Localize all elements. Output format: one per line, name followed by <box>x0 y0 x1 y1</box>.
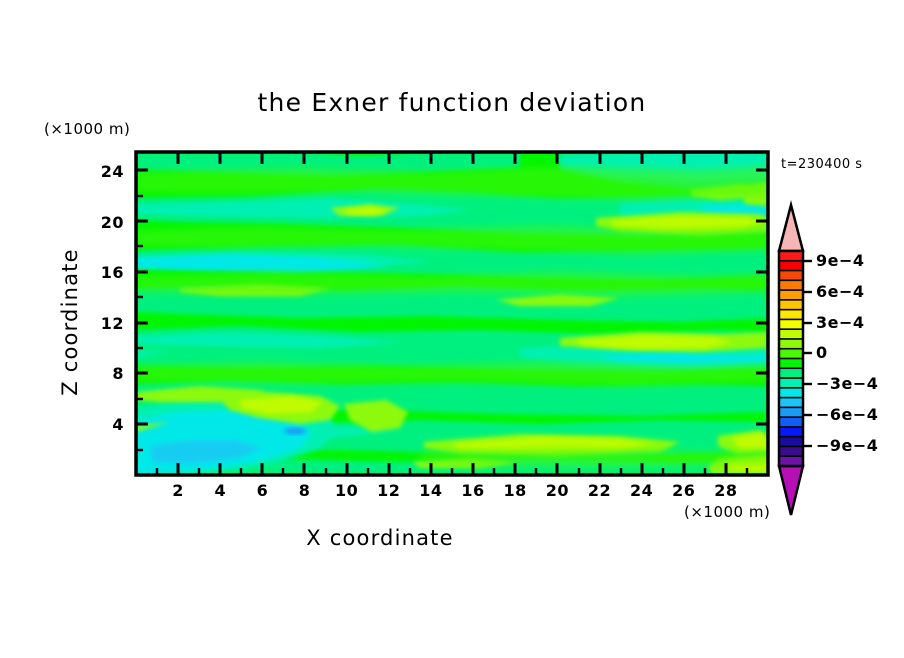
colorbar-band <box>779 310 803 320</box>
colorbar-band <box>779 290 803 300</box>
colorbar-band <box>779 417 803 427</box>
timestamp-annotation: t=230400 s <box>781 157 863 172</box>
colorbar-tick-label: 3e−4 <box>816 313 902 332</box>
colorbar-tick-label: −9e−4 <box>816 436 902 455</box>
colorbar-band <box>779 349 803 359</box>
colorbar[interactable] <box>779 205 812 515</box>
colorbar-band <box>779 368 803 378</box>
colorbar-band <box>779 329 803 339</box>
colorbar-tick-label: 9e−4 <box>816 251 902 270</box>
colorbar-ticks <box>803 261 812 446</box>
colorbar-band <box>779 378 803 388</box>
colorbar-band <box>779 359 803 369</box>
colorbar-band <box>779 261 803 271</box>
colorbar-band <box>779 427 803 437</box>
colorbar-bands <box>779 251 803 466</box>
y-tick-label: 4 <box>70 415 124 434</box>
colorbar-band <box>779 339 803 349</box>
colorbar-band <box>779 446 803 456</box>
colorbar-tick-label: 0 <box>816 343 902 362</box>
colorbar-band <box>779 407 803 417</box>
colorbar-units-label: (×1000 m) <box>684 503 770 521</box>
y-tick-label: 16 <box>70 263 124 282</box>
colorbar-tick-label: 6e−4 <box>816 282 902 301</box>
y-tick-label: 24 <box>70 162 124 181</box>
colorbar-tick-label: −6e−4 <box>816 405 902 424</box>
colorbar-over-arrow <box>779 205 803 251</box>
colorbar-band <box>779 271 803 281</box>
colorbar-tick-label: −3e−4 <box>816 374 902 393</box>
page-title: the Exner function deviation <box>0 88 904 117</box>
y-tick-label: 12 <box>70 314 124 333</box>
colorbar-under-arrow <box>779 466 803 515</box>
exner-function-contour-figure: the Exner function deviation (×1000 m) t… <box>0 0 904 654</box>
x-tick-label: 28 <box>701 481 751 500</box>
y-tick-label: 8 <box>70 364 124 383</box>
contour-field <box>136 152 768 475</box>
colorbar-band <box>779 437 803 447</box>
colorbar-band <box>779 280 803 290</box>
colorbar-band <box>779 251 803 261</box>
colorbar-band <box>779 300 803 310</box>
colorbar-band <box>779 319 803 329</box>
x-axis-title: X coordinate <box>0 526 760 550</box>
y-axis-units-label: (×1000 m) <box>44 120 130 138</box>
colorbar-band <box>779 398 803 408</box>
y-tick-label: 20 <box>70 213 124 232</box>
colorbar-band <box>779 388 803 398</box>
